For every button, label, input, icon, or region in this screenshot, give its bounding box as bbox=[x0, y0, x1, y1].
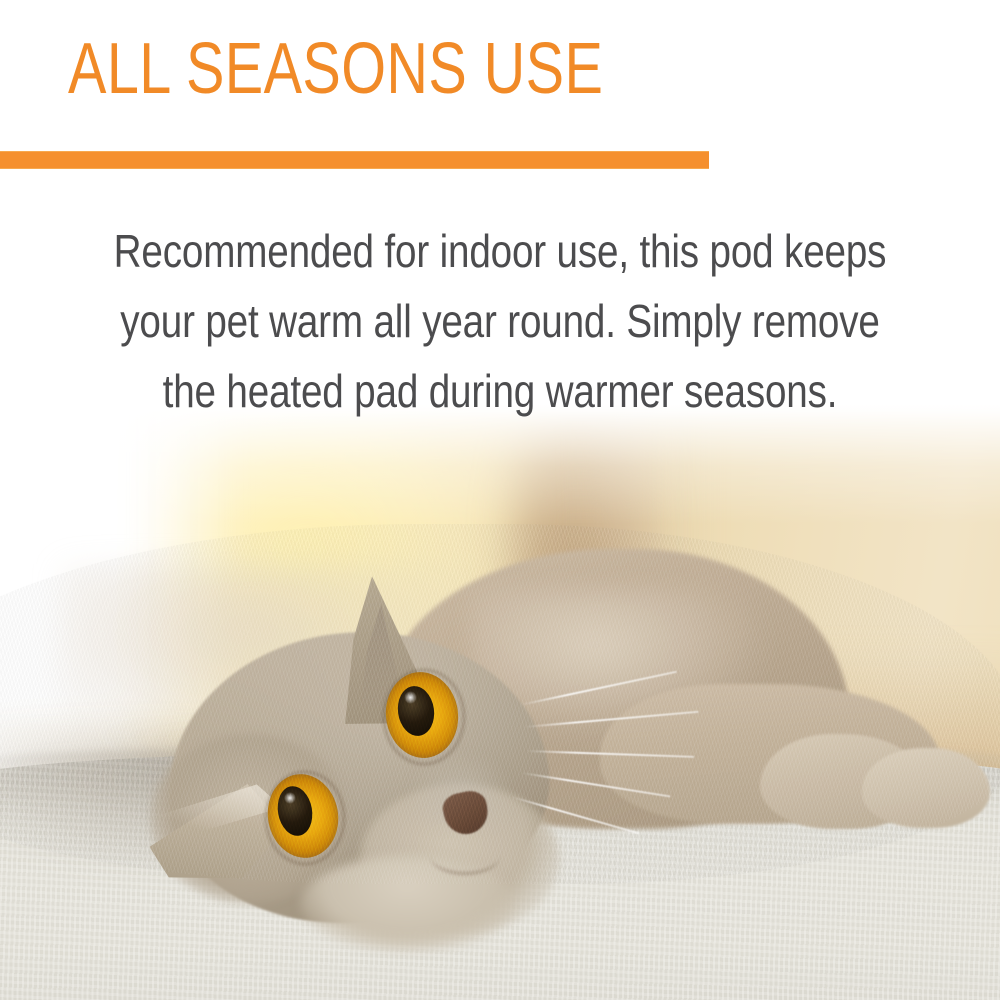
cat-mouth bbox=[430, 836, 500, 875]
cat-toe bbox=[830, 789, 870, 817]
accent-divider bbox=[0, 151, 709, 169]
body-copy-line-1: Recommended for indoor use, this pod kee… bbox=[80, 216, 920, 286]
product-feature-card: ALL SEASONS USE Recommended for indoor u… bbox=[0, 0, 1000, 1000]
body-copy-line-3: the heated pad during warmer seasons. bbox=[80, 356, 920, 426]
cat-paw-back bbox=[862, 748, 990, 828]
cat-eye-glint-right bbox=[404, 691, 417, 704]
page-title: ALL SEASONS USE bbox=[68, 32, 603, 106]
product-photo bbox=[0, 404, 1000, 1000]
cat-illustration bbox=[0, 404, 1000, 1000]
body-copy-line-2: your pet warm all year round. Simply rem… bbox=[80, 286, 920, 356]
cat-eye-glint-left bbox=[284, 792, 296, 804]
text-panel: ALL SEASONS USE Recommended for indoor u… bbox=[0, 0, 1000, 420]
body-copy: Recommended for indoor use, this pod kee… bbox=[0, 216, 1000, 426]
